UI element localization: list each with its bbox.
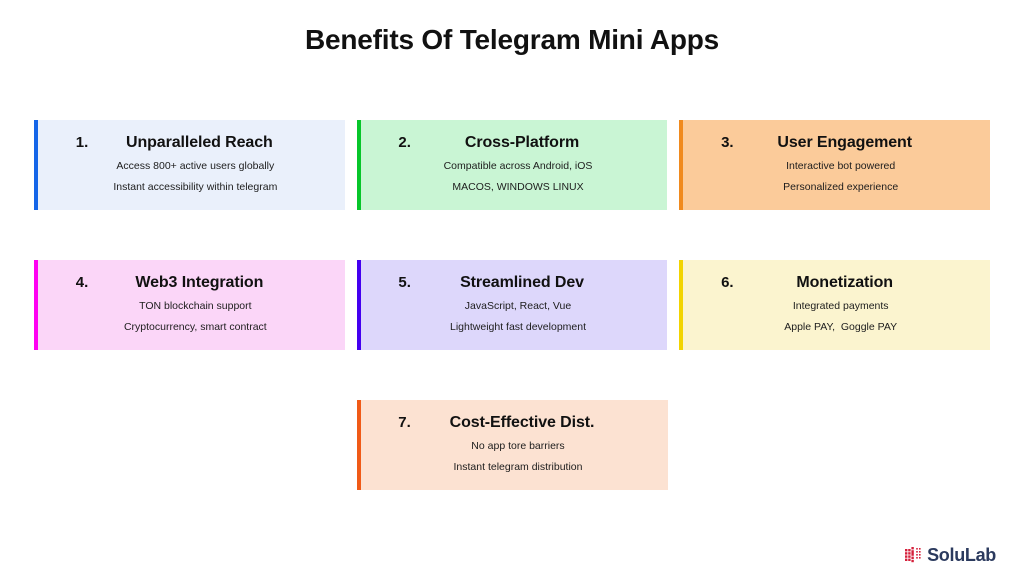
card-line1-1: Access 800+ active users globally xyxy=(44,160,335,172)
card-line1-5: JavaScript, React, Vue xyxy=(367,300,658,312)
solulab-mark-icon xyxy=(905,547,922,564)
benefit-card-5[interactable]: 5. Streamlined Dev JavaScript, React, Vu… xyxy=(357,260,668,350)
card-row-3: 7. Cost-Effective Dist. No app tore barr… xyxy=(34,400,990,490)
card-header-7: 7. Cost-Effective Dist. xyxy=(367,414,658,432)
brand-logo: SoluLab xyxy=(905,545,996,566)
card-header-5: 5. Streamlined Dev xyxy=(367,274,658,292)
card-title-3: User Engagement xyxy=(753,134,980,152)
benefit-card-grid: 1. Unparalleled Reach Access 800+ active… xyxy=(34,120,990,490)
card-row-1: 1. Unparalleled Reach Access 800+ active… xyxy=(34,120,990,210)
card-line1-3: Interactive bot powered xyxy=(689,160,980,172)
card-line1-7: No app tore barriers xyxy=(367,440,658,452)
card-line1-4: TON blockchain support xyxy=(44,300,335,312)
card-line2-2: MACOS, WINDOWS LINUX xyxy=(367,181,658,193)
card-line2-4: Cryptocurrency, smart contract xyxy=(44,321,335,333)
card-title-5: Streamlined Dev xyxy=(431,274,658,292)
card-title-7: Cost-Effective Dist. xyxy=(431,414,658,432)
card-line2-3: Personalized experience xyxy=(689,181,980,193)
card-title-6: Monetization xyxy=(753,274,980,292)
card-line2-6: Apple PAY, Goggle PAY xyxy=(689,321,980,333)
card-accent-bar-2 xyxy=(357,120,361,210)
benefit-card-3[interactable]: 3. User Engagement Interactive bot power… xyxy=(679,120,990,210)
card-line2-1: Instant accessibility within telegram xyxy=(44,181,335,193)
benefit-card-7[interactable]: 7. Cost-Effective Dist. No app tore barr… xyxy=(357,400,668,490)
card-title-1: Unparalleled Reach xyxy=(108,134,335,152)
card-number-1: 1. xyxy=(56,134,108,151)
infographic-page: Benefits Of Telegram Mini Apps 1. Unpara… xyxy=(0,0,1024,576)
benefit-card-4[interactable]: 4. Web3 Integration TON blockchain suppo… xyxy=(34,260,345,350)
benefit-card-1[interactable]: 1. Unparalleled Reach Access 800+ active… xyxy=(34,120,345,210)
card-line2-7: Instant telegram distribution xyxy=(367,461,658,473)
card-row-2: 4. Web3 Integration TON blockchain suppo… xyxy=(34,260,990,350)
card-header-3: 3. User Engagement xyxy=(689,134,980,152)
card-number-6: 6. xyxy=(701,274,753,291)
card-header-4: 4. Web3 Integration xyxy=(44,274,335,292)
card-title-2: Cross-Platform xyxy=(431,134,658,152)
card-accent-bar-5 xyxy=(357,260,361,350)
card-accent-bar-1 xyxy=(34,120,38,210)
card-header-2: 2. Cross-Platform xyxy=(367,134,658,152)
card-accent-bar-6 xyxy=(679,260,683,350)
card-line2-5: Lightweight fast development xyxy=(367,321,658,333)
card-title-4: Web3 Integration xyxy=(108,274,335,292)
card-line1-6: Integrated payments xyxy=(689,300,980,312)
card-accent-bar-7 xyxy=(357,400,361,490)
card-accent-bar-4 xyxy=(34,260,38,350)
card-number-5: 5. xyxy=(379,274,431,291)
card-line1-2: Compatible across Android, iOS xyxy=(367,160,658,172)
benefit-card-2[interactable]: 2. Cross-Platform Compatible across Andr… xyxy=(357,120,668,210)
card-header-6: 6. Monetization xyxy=(689,274,980,292)
card-number-2: 2. xyxy=(379,134,431,151)
card-number-3: 3. xyxy=(701,134,753,151)
card-accent-bar-3 xyxy=(679,120,683,210)
card-header-1: 1. Unparalleled Reach xyxy=(44,134,335,152)
card-number-7: 7. xyxy=(379,414,431,431)
brand-name: SoluLab xyxy=(927,545,996,566)
page-title: Benefits Of Telegram Mini Apps xyxy=(0,24,1024,56)
card-number-4: 4. xyxy=(56,274,108,291)
benefit-card-6[interactable]: 6. Monetization Integrated payments Appl… xyxy=(679,260,990,350)
